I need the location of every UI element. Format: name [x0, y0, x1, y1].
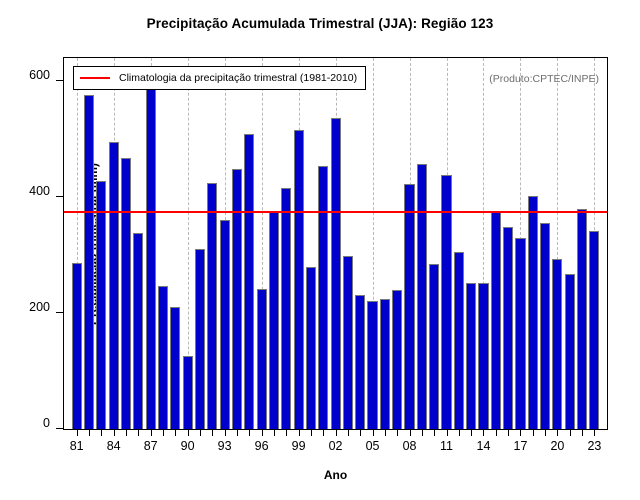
- bar: [133, 233, 143, 430]
- bar: [331, 118, 341, 429]
- x-axis-tick: [496, 429, 497, 436]
- x-axis-tick-label: 84: [107, 439, 121, 453]
- bar: [478, 283, 488, 429]
- bar: [96, 181, 106, 429]
- x-axis-tick-label: 23: [587, 439, 601, 453]
- x-axis-tick: [520, 429, 521, 436]
- bar: [170, 307, 180, 429]
- bar: [343, 256, 353, 429]
- bar: [158, 286, 168, 429]
- bar: [244, 134, 254, 429]
- x-axis-tick: [471, 429, 472, 436]
- legend-label: Climatologia da precipitação trimestral …: [119, 72, 357, 84]
- x-axis-tick: [188, 429, 189, 436]
- x-axis-tick-label: 02: [329, 439, 343, 453]
- x-axis-tick-label: 17: [514, 439, 528, 453]
- bar: [72, 263, 82, 429]
- bar: [491, 211, 501, 429]
- x-axis-tick: [557, 429, 558, 436]
- bar: [454, 252, 464, 429]
- x-axis-tick-label: 90: [181, 439, 195, 453]
- x-axis-tick: [286, 429, 287, 436]
- x-axis-tick: [422, 429, 423, 436]
- bar: [183, 356, 193, 429]
- x-axis-tick: [225, 429, 226, 436]
- x-axis-tick-label: 81: [70, 439, 84, 453]
- x-axis-tick: [101, 429, 102, 436]
- climatology-reference-line: [64, 211, 607, 213]
- bar: [540, 223, 550, 429]
- x-axis-tick: [175, 429, 176, 436]
- legend: Climatologia da precipitação trimestral …: [73, 66, 366, 90]
- x-axis-tick-label: 08: [403, 439, 417, 453]
- bar: [565, 274, 575, 429]
- x-axis-tick-label: 87: [144, 439, 158, 453]
- x-axis-tick: [237, 429, 238, 436]
- x-axis-tick: [508, 429, 509, 436]
- x-axis-tick: [126, 429, 127, 436]
- bar: [441, 175, 451, 429]
- x-axis-tick: [299, 429, 300, 436]
- bar: [294, 130, 304, 429]
- x-axis-tick-label: 11: [440, 439, 453, 453]
- bar: [404, 184, 414, 429]
- bar: [195, 249, 205, 429]
- y-axis-tick-label: 200: [29, 300, 50, 314]
- bar: [281, 188, 291, 429]
- bar: [528, 196, 538, 429]
- x-axis-tick-label: 96: [255, 439, 269, 453]
- x-axis-tick: [163, 429, 164, 436]
- x-axis-tick-labels: 818487909396990205081114172023: [64, 439, 607, 455]
- bar: [380, 299, 390, 429]
- x-axis-tick: [77, 429, 78, 436]
- x-axis-tick: [262, 429, 263, 436]
- bar: [109, 142, 119, 429]
- x-axis-tick: [274, 429, 275, 436]
- bar: [84, 95, 94, 429]
- x-axis-tick: [151, 429, 152, 436]
- bar: [577, 209, 587, 429]
- y-axis-tick: [56, 196, 64, 197]
- x-axis-tick: [212, 429, 213, 436]
- y-axis-tick: [56, 428, 64, 429]
- x-axis-tick-label: 99: [292, 439, 306, 453]
- x-axis-tick: [348, 429, 349, 436]
- page-title: Precipitação Acumulada Trimestral (JJA):…: [0, 16, 640, 31]
- x-axis-tick: [447, 429, 448, 436]
- x-axis-tick: [533, 429, 534, 436]
- bar: [589, 231, 599, 429]
- x-axis-tick: [545, 429, 546, 436]
- x-axis-tick: [397, 429, 398, 436]
- x-axis-tick: [311, 429, 312, 436]
- x-axis-tick: [200, 429, 201, 436]
- x-axis-tick: [336, 429, 337, 436]
- precipitation-bar-chart-figure: Precipitação Acumulada Trimestral (JJA):…: [0, 0, 640, 500]
- x-axis-tick: [138, 429, 139, 436]
- plot-area: [64, 58, 607, 429]
- y-axis-tick-label: 400: [29, 184, 50, 198]
- bar: [306, 267, 316, 429]
- x-axis-tick: [410, 429, 411, 436]
- bar: [207, 183, 217, 429]
- x-axis-tick: [483, 429, 484, 436]
- x-axis-title: Ano: [63, 468, 608, 482]
- x-axis-tick: [89, 429, 90, 436]
- bar: [466, 283, 476, 429]
- x-axis-tick: [434, 429, 435, 436]
- x-axis-tick: [385, 429, 386, 436]
- bar: [429, 264, 439, 429]
- bar: [232, 169, 242, 429]
- y-axis-tick: [56, 80, 64, 81]
- x-axis-tick-label: 20: [550, 439, 564, 453]
- x-axis-tick: [570, 429, 571, 436]
- bar: [552, 259, 562, 429]
- bar: [257, 289, 267, 429]
- bar: [503, 227, 513, 429]
- plot-frame: Precipitação trimestral (mm) 0200400600 …: [63, 57, 608, 430]
- x-axis-tick: [582, 429, 583, 436]
- bar: [220, 220, 230, 429]
- bar: [515, 238, 525, 429]
- x-axis-tick-label: 05: [366, 439, 380, 453]
- x-axis-tick-label: 14: [477, 439, 491, 453]
- bar: [146, 89, 156, 429]
- x-axis-tick: [323, 429, 324, 436]
- bar: [121, 158, 131, 429]
- x-axis-tick-label: 93: [218, 439, 232, 453]
- legend-line-swatch: [80, 77, 110, 79]
- y-axis-tick-label: 0: [43, 416, 50, 430]
- x-axis-tick: [360, 429, 361, 436]
- x-axis-tick: [249, 429, 250, 436]
- x-axis-tick: [373, 429, 374, 436]
- y-axis-tick-label: 600: [29, 68, 50, 82]
- x-axis-tick: [594, 429, 595, 436]
- x-axis-tick: [114, 429, 115, 436]
- bar: [355, 295, 365, 429]
- bar: [318, 166, 328, 429]
- bar: [417, 164, 427, 429]
- x-axis-tick: [459, 429, 460, 436]
- y-axis-tick: [56, 312, 64, 313]
- bar: [367, 301, 377, 429]
- bar: [269, 211, 279, 429]
- product-annotation: (Produto:CPTEC/INPE): [489, 73, 599, 85]
- bar: [392, 290, 402, 429]
